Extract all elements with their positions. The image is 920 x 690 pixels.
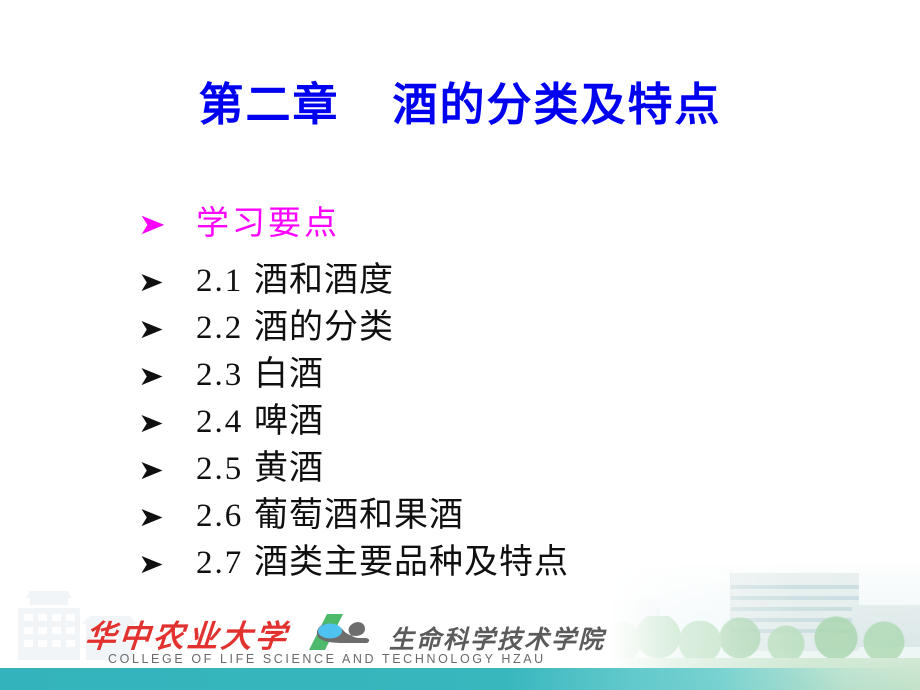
outline-heading-row: ➤ 学习要点: [138, 196, 898, 252]
college-name-cn: 生命科学技术学院: [389, 627, 605, 652]
outline-item-label: 啤酒: [254, 393, 324, 442]
outline-item-label: 葡萄酒和果酒: [254, 487, 464, 536]
outline-item-2-5: ➤ 2.5 黄酒: [138, 440, 898, 487]
logo-english-line: COLLEGE OF LIFE SCIENCE AND TECHNOLOGY H…: [108, 652, 546, 666]
arrowhead-bullet-icon: ➤: [138, 504, 173, 531]
logo-lockup: 华中农业大学 生命科学技术学院: [85, 606, 605, 652]
outline-item-2-6: ➤ 2.6 葡萄酒和果酒: [138, 487, 898, 534]
infinity-dna-logo-icon: [303, 612, 381, 652]
outline-item-number: 2.7: [168, 545, 254, 582]
outline-item-number: 2.2: [168, 310, 254, 347]
outline-item-number: 2.1: [168, 263, 254, 300]
outline-item-number: 2.6: [168, 498, 254, 535]
outline-heading-label: 学习要点: [168, 196, 340, 244]
arrowhead-bullet-icon: ➤: [138, 316, 173, 343]
arrowhead-bullet-icon: ➤: [138, 363, 173, 390]
outline-item-number: 2.5: [168, 451, 254, 488]
slide-footer: 华中农业大学 生命科学技术学院 COLLEGE OF LIFE SCIENCE …: [0, 580, 920, 690]
outline-item-label: 酒和酒度: [254, 252, 394, 301]
arrowhead-bullet-icon: ➤: [138, 210, 173, 239]
arrowhead-bullet-icon: ➤: [138, 269, 173, 296]
page-title: 第二章 酒的分类及特点: [0, 80, 920, 130]
outline-item-number: 2.3: [168, 357, 254, 394]
outline-item-number: 2.4: [168, 404, 254, 441]
arrowhead-bullet-icon: ➤: [138, 410, 173, 437]
outline-item-label: 黄酒: [254, 440, 324, 489]
footer-accent-bar: [0, 668, 920, 690]
outline-list: ➤ 学习要点 ➤ 2.1 酒和酒度 ➤ 2.2 酒的分类 ➤ 2.3 白酒 ➤ …: [138, 196, 898, 581]
arrowhead-bullet-icon: ➤: [138, 551, 173, 578]
arrowhead-bullet-icon: ➤: [138, 457, 173, 484]
outline-item-label: 白酒: [254, 346, 324, 395]
outline-item-label: 酒的分类: [254, 299, 394, 348]
university-name-cn: 华中农业大学: [84, 621, 291, 652]
outline-item-2-3: ➤ 2.3 白酒: [138, 346, 898, 393]
outline-item-label: 酒类主要品种及特点: [254, 534, 569, 583]
outline-item-2-1: ➤ 2.1 酒和酒度: [138, 252, 898, 299]
outline-item-2-4: ➤ 2.4 啤酒: [138, 393, 898, 440]
presentation-slide: 第二章 酒的分类及特点 ➤ 学习要点 ➤ 2.1 酒和酒度 ➤ 2.2 酒的分类…: [0, 0, 920, 690]
outline-item-2-2: ➤ 2.2 酒的分类: [138, 299, 898, 346]
